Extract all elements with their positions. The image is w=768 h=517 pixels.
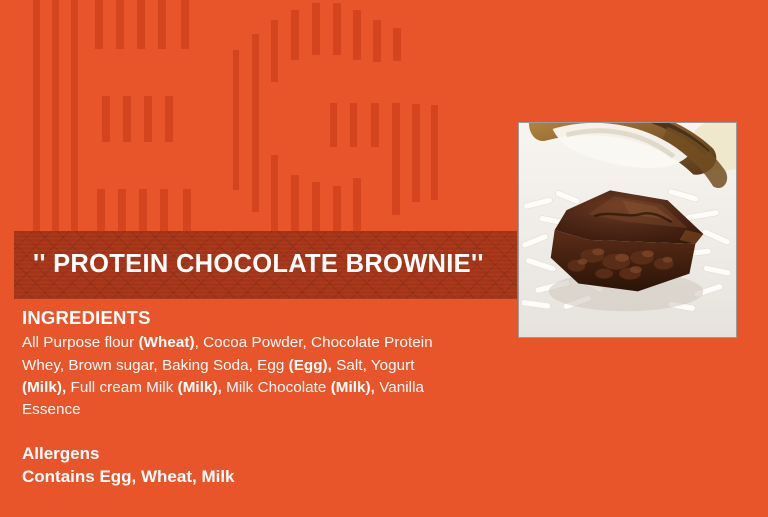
title-banner: '' PROTEIN CHOCOLATE BROWNIE'' <box>14 231 517 299</box>
product-label-poster: '' PROTEIN CHOCOLATE BROWNIE'' INGREDIEN… <box>0 0 768 517</box>
allergens-section: Allergens Contains Egg, Wheat, Milk <box>22 444 442 488</box>
ingredient-token: Full cream Milk <box>66 379 177 396</box>
allergen-token: (Milk), <box>178 379 222 396</box>
allergens-heading: Allergens <box>22 444 442 464</box>
ingredients-heading: INGREDIENTS <box>22 307 442 328</box>
allergen-token: (Milk), <box>22 379 66 396</box>
ingredients-section: INGREDIENTS All Purpose flour (Wheat), C… <box>22 307 442 422</box>
allergen-token: (Wheat) <box>139 334 195 351</box>
allergen-token: (Egg), <box>289 357 332 374</box>
ingredient-token: Salt, Yogurt <box>332 357 415 374</box>
ingredient-token: Milk Chocolate <box>222 379 331 396</box>
allergens-contains-line: Contains Egg, Wheat, Milk <box>22 467 442 487</box>
ingredients-list: All Purpose flour (Wheat), Cocoa Powder,… <box>22 332 442 421</box>
watermark-striped-letters <box>0 0 500 232</box>
product-photo <box>518 122 737 338</box>
ingredient-token: All Purpose flour <box>22 334 139 351</box>
product-title: '' PROTEIN CHOCOLATE BROWNIE'' <box>33 252 484 278</box>
allergen-token: (Milk), <box>331 379 375 396</box>
